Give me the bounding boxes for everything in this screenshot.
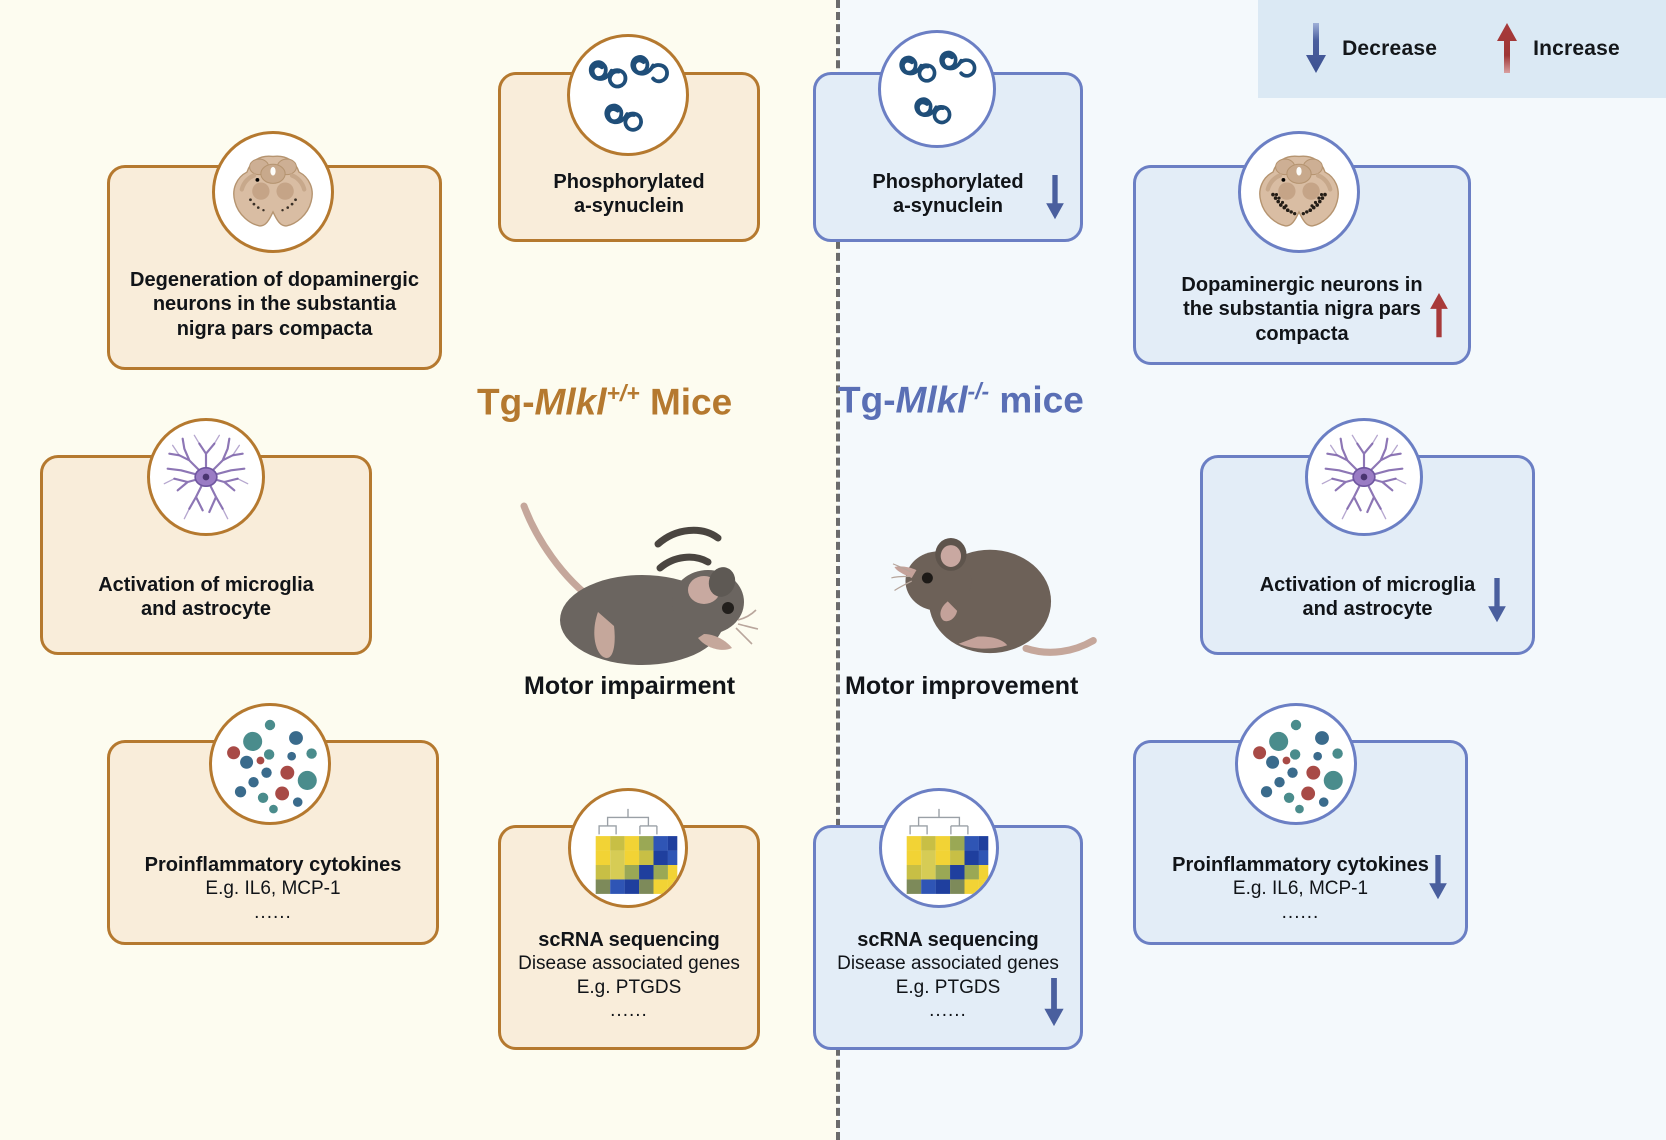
card-line-1: Degeneration of dopaminergic (122, 268, 427, 292)
card-line-3: E.g. PTGDS (828, 976, 1068, 999)
card-left-scrna-text: scRNA sequencing Disease associated gene… (501, 928, 757, 1022)
card-line-1: Activation of microglia (55, 573, 357, 597)
card-line-1: Proinflammatory cytokines (122, 853, 424, 877)
arrow-up-icon (1428, 293, 1450, 339)
astrocyte-icon (147, 418, 265, 536)
card-line-1: Activation of microglia (1215, 573, 1520, 597)
left-title-gene: Mlkl (535, 381, 607, 422)
card-right-dopaminergic-text: Dopaminergic neurons in the substantia n… (1136, 273, 1468, 346)
arrow-down-icon (1486, 578, 1508, 624)
legend-item-decrease: Decrease (1304, 23, 1437, 75)
right-panel-title: Tg-Mlkl-/- mice (838, 378, 1084, 421)
card-line-2: neurons in the substantia (122, 292, 427, 316)
card-left-degeneration-text: Degeneration of dopaminergic neurons in … (110, 268, 439, 341)
card-line-1: Proinflammatory cytokines (1148, 853, 1453, 877)
card-line-2: a-synuclein (513, 194, 745, 218)
right-title-gene: Mlkl (896, 379, 968, 420)
synuclein-aggregate-icon (878, 30, 996, 148)
card-right-cytokines-text: Proinflammatory cytokines E.g. IL6, MCP-… (1136, 853, 1465, 924)
figure-canvas: Decrease Increase (0, 0, 1666, 1140)
card-line-1: Phosphorylated (828, 170, 1068, 194)
right-motor-label: Motor improvement (845, 672, 1078, 701)
arrow-down-icon (1044, 175, 1066, 221)
card-right-psynuclein-text: Phosphorylated a-synuclein (816, 170, 1080, 219)
brain-section-icon (1238, 131, 1360, 253)
left-motor-label: Motor impairment (524, 672, 735, 701)
synuclein-aggregate-icon (567, 34, 689, 156)
heatmap-icon (568, 788, 688, 908)
left-title-prefix: Tg- (477, 381, 535, 422)
mouse-lying-icon (470, 462, 770, 692)
card-line-2: Disease associated genes (513, 952, 745, 975)
card-line-3: compacta (1148, 322, 1456, 346)
cytokine-dots-icon (209, 703, 331, 825)
card-line-2: and astrocyte (55, 597, 357, 621)
heatmap-icon (879, 788, 999, 908)
card-left-psynuclein-text: Phosphorylated a-synuclein (501, 170, 757, 219)
card-line-4: ...... (513, 999, 745, 1022)
legend-label-decrease: Decrease (1342, 37, 1437, 61)
right-title-suffix: mice (989, 379, 1084, 420)
card-line-3: E.g. PTGDS (513, 976, 745, 999)
legend: Decrease Increase (1258, 0, 1666, 98)
arrow-up-icon (1495, 23, 1519, 75)
right-title-superscript: -/- (968, 378, 990, 404)
card-line-2: Disease associated genes (828, 952, 1068, 975)
right-title-prefix: Tg- (838, 379, 896, 420)
card-line-2: and astrocyte (1215, 597, 1520, 621)
astrocyte-icon (1305, 418, 1423, 536)
card-line-2: E.g. IL6, MCP-1 (1148, 877, 1453, 900)
cytokine-dots-icon (1235, 703, 1357, 825)
mouse-sitting-icon (845, 495, 1135, 675)
card-left-cytokines-text: Proinflammatory cytokines E.g. IL6, MCP-… (110, 853, 436, 924)
card-line-3: nigra pars compacta (122, 317, 427, 341)
left-panel-title: Tg-Mlkl+/+ Mice (477, 380, 732, 423)
left-title-superscript: +/+ (607, 380, 640, 406)
left-title-suffix: Mice (640, 381, 733, 422)
card-line-1: Phosphorylated (513, 170, 745, 194)
card-right-microglia-text: Activation of microglia and astrocyte (1203, 573, 1532, 622)
card-line-2: the substantia nigra pars (1148, 297, 1456, 321)
card-line-1: scRNA sequencing (828, 928, 1068, 952)
card-line-2: E.g. IL6, MCP-1 (122, 877, 424, 900)
card-line-1: Dopaminergic neurons in (1148, 273, 1456, 297)
card-line-1: scRNA sequencing (513, 928, 745, 952)
legend-label-increase: Increase (1533, 37, 1620, 61)
arrow-down-icon (1427, 855, 1449, 901)
card-line-3: ...... (122, 901, 424, 924)
brain-section-icon (212, 131, 334, 253)
card-left-microglia-text: Activation of microglia and astrocyte (43, 573, 369, 622)
legend-item-increase: Increase (1495, 23, 1620, 75)
card-right-scrna-text: scRNA sequencing Disease associated gene… (816, 928, 1080, 1022)
card-line-2: a-synuclein (828, 194, 1068, 218)
card-line-4: ...... (828, 999, 1068, 1022)
card-line-3: ...... (1148, 901, 1453, 924)
arrow-down-icon (1304, 23, 1328, 75)
arrow-down-icon (1042, 978, 1066, 1028)
